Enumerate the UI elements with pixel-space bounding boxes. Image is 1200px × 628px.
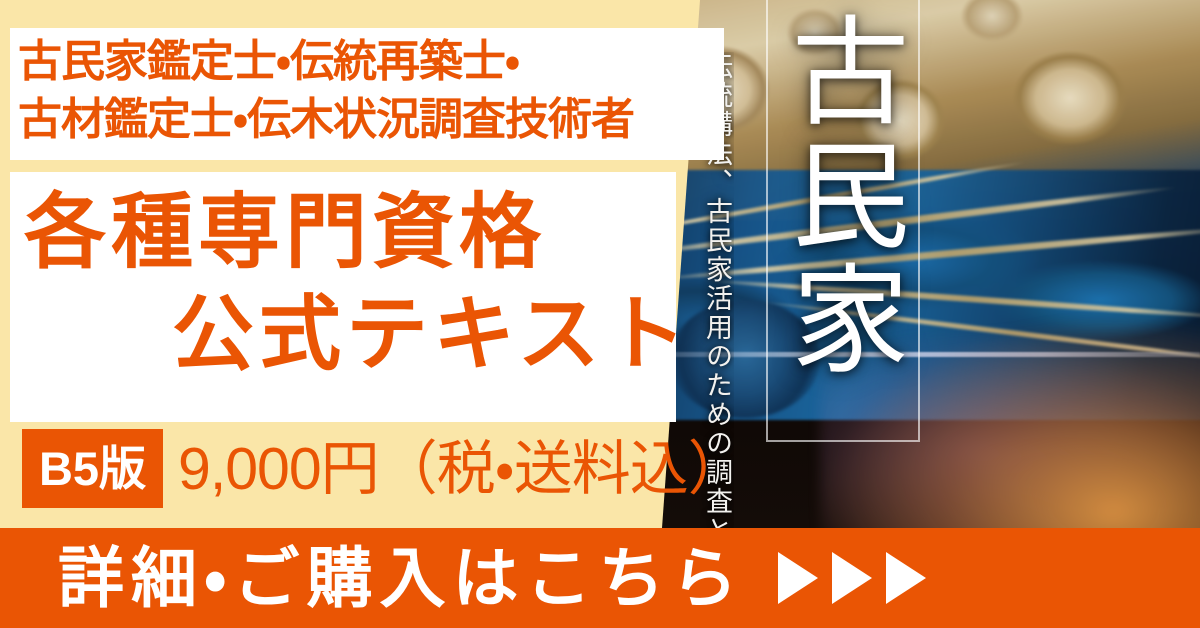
cta-bar[interactable]: 詳細・ご購入はこちら <box>0 528 1200 628</box>
qualifications-line-2: 古材鑑定士・伝木状況調査技術者 <box>18 91 728 149</box>
price-text: 9,000円（税・送料込） <box>178 437 746 502</box>
triangle-right-icon <box>832 552 872 604</box>
size-badge-label: B5版 <box>39 445 146 492</box>
qualifications-text: 古民家鑑定士・伝統再築士・ 古材鑑定士・伝木状況調査技術者 <box>18 33 728 149</box>
size-badge: B5版 <box>22 429 163 508</box>
cta-label: 詳細・ご購入はこちら <box>58 545 744 611</box>
qualifications-line-1: 古民家鑑定士・伝統再築士・ <box>18 33 728 91</box>
cta-arrow-group <box>778 552 926 604</box>
headline-line-2: 公式テキスト <box>172 294 692 376</box>
triangle-right-icon <box>778 552 818 604</box>
promo-banner: 伝統構法、古民家活用のための調査と再生の 古民家 古民家鑑定士・伝統再築士・ 古… <box>0 0 1200 628</box>
headline-line-1: 各種専門資格 <box>24 192 546 274</box>
book-title: 古民家 <box>786 10 904 382</box>
triangle-right-icon <box>886 552 926 604</box>
